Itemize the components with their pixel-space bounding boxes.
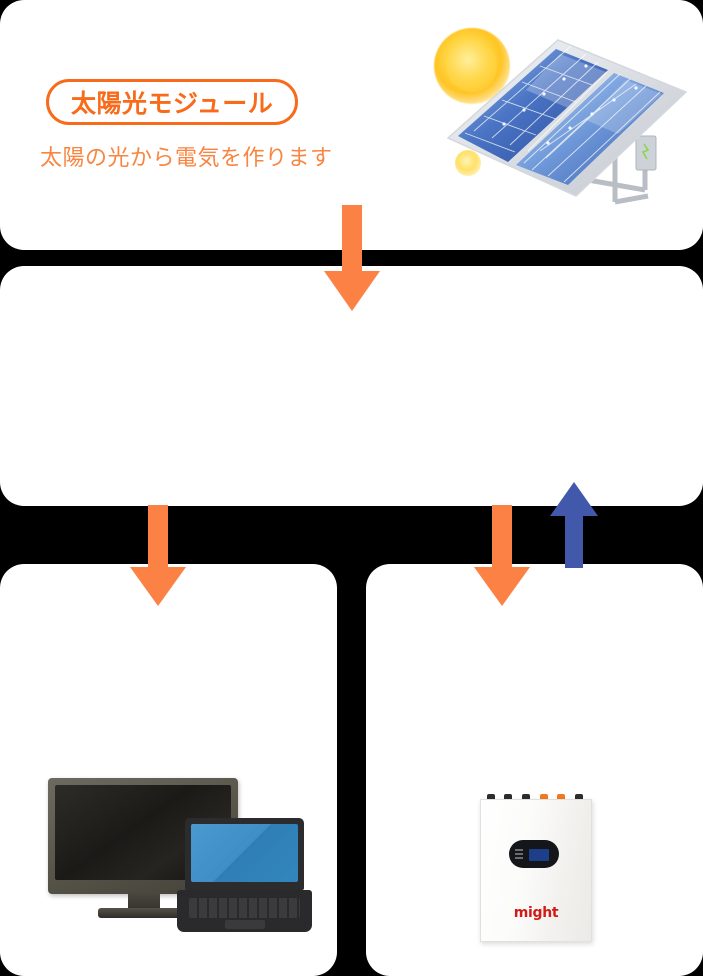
laptop-illustration bbox=[177, 818, 312, 936]
arrow-inverter-to-load bbox=[128, 505, 188, 610]
battery-lcd-screen bbox=[529, 849, 549, 861]
battery-brand-label: might bbox=[481, 905, 591, 921]
solar-panel-illustration bbox=[440, 30, 690, 220]
diagram-canvas: 太陽光モジュール 太陽の光から電気を作ります might ハイブリッドインバータ… bbox=[0, 0, 703, 976]
laptop-touchpad bbox=[225, 920, 265, 929]
badge-solar-module: 太陽光モジュール bbox=[46, 79, 298, 125]
arrow-battery-to-inverter bbox=[548, 482, 600, 570]
battery-body: might bbox=[480, 799, 592, 942]
laptop-keyboard bbox=[189, 898, 300, 918]
arrow-inverter-to-battery bbox=[472, 505, 532, 610]
battery-display-panel bbox=[509, 840, 559, 868]
description-solar-module: 太陽の光から電気を作ります bbox=[40, 141, 333, 175]
battery-led-indicators bbox=[515, 849, 523, 861]
laptop-screen bbox=[191, 824, 298, 882]
arrow-solar-to-inverter bbox=[322, 205, 382, 315]
battery-unit-illustration: might bbox=[480, 790, 590, 940]
laptop-lid bbox=[185, 818, 304, 890]
solar-panel-svg bbox=[440, 30, 690, 220]
